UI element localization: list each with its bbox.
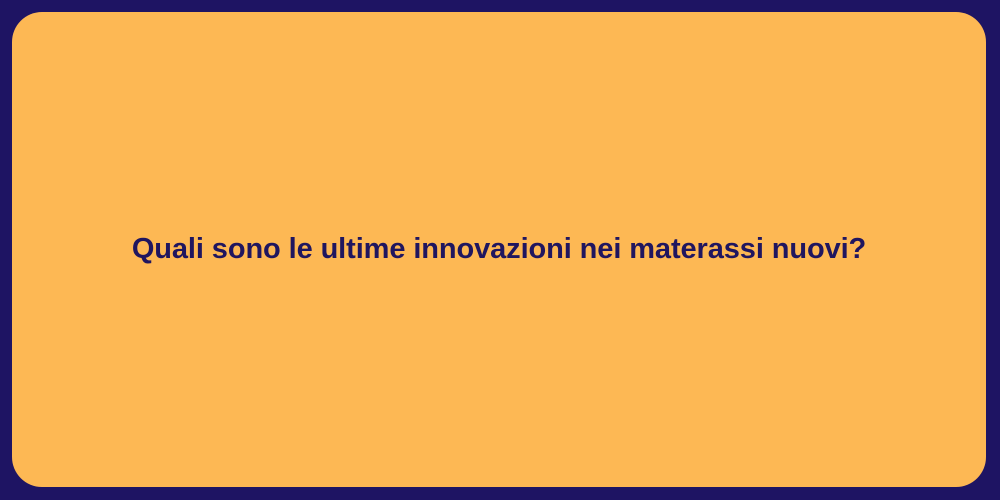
banner-card: Quali sono le ultime innovazioni nei mat…: [12, 12, 986, 487]
banner-headline: Quali sono le ultime innovazioni nei mat…: [104, 231, 894, 267]
banner-outer-frame: Quali sono le ultime innovazioni nei mat…: [0, 0, 1000, 500]
